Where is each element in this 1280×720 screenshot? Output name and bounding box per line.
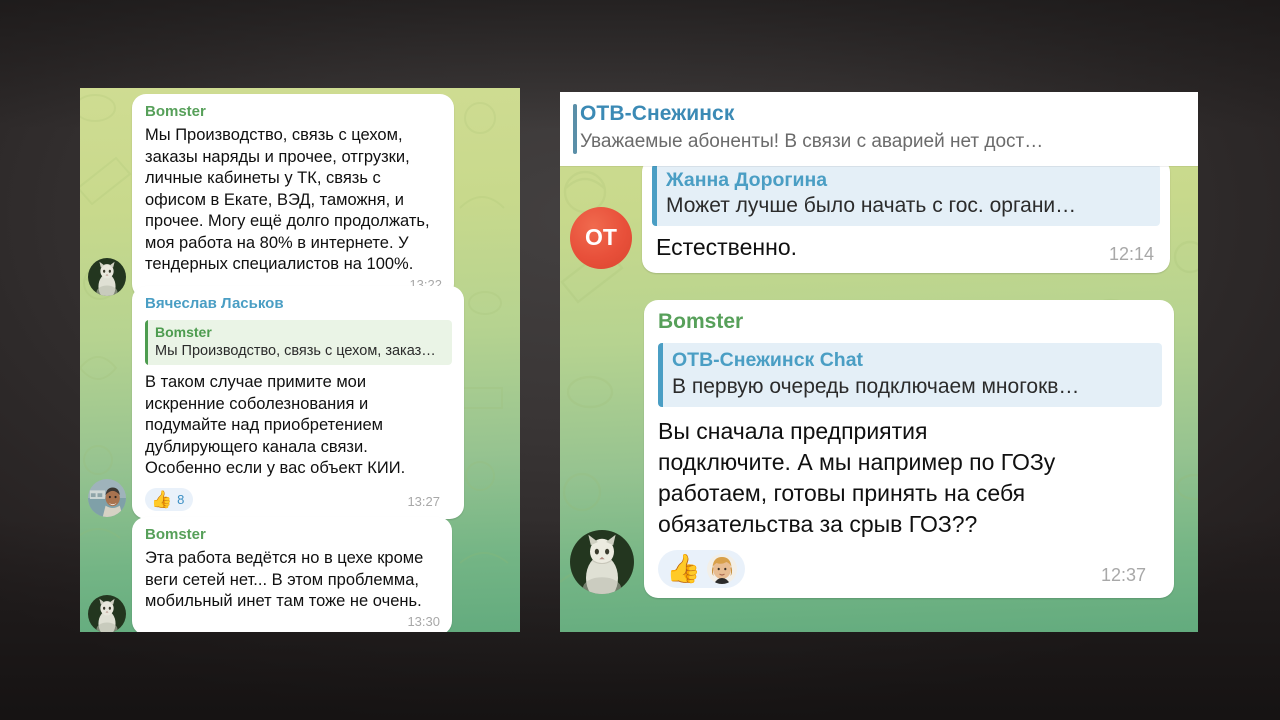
- pinned-message-bar[interactable]: ОТВ-Снежинск Уважаемые абоненты! В связи…: [560, 92, 1198, 166]
- message-row[interactable]: Bomster ОТВ-Снежинск Chat В первую очере…: [570, 300, 1192, 598]
- message-text: В таком случае примите мои искренние соб…: [145, 372, 452, 480]
- message-sender: Bomster: [145, 526, 440, 544]
- reaction-user-avatar[interactable]: [707, 554, 737, 584]
- chat-screenshot-left: Bomster Мы Производство, связь с цехом, …: [80, 88, 520, 632]
- message-text: Эта работа ведётся но в цехе кроме веги …: [145, 548, 440, 613]
- reply-quote-text: Может лучше было начать с гос. органи…: [666, 192, 1150, 219]
- avatar-initials-text: ОТ: [585, 224, 617, 251]
- reply-quote-author: Жанна Дорогина: [666, 168, 1150, 192]
- woman-photo-avatar-icon: [707, 554, 737, 584]
- avatar[interactable]: [570, 530, 634, 594]
- message-row[interactable]: ОТ Жанна Дорогина Может лучше было начат…: [570, 158, 1190, 273]
- cat-avatar-icon: [88, 595, 126, 633]
- reaction-count: 8: [177, 492, 184, 507]
- thumbs-up-icon: 👍: [666, 554, 701, 584]
- chat-screenshot-right: ОТВ-Снежинск Уважаемые абоненты! В связи…: [560, 92, 1198, 632]
- message-text: Мы Производство, связь с цехом, заказы н…: [145, 125, 442, 276]
- message-sender: Bomster: [658, 309, 1162, 334]
- message-row[interactable]: Bomster Эта работа ведётся но в цехе кро…: [88, 517, 512, 632]
- reaction-pill[interactable]: 👍: [658, 550, 745, 588]
- message-row[interactable]: Bomster Мы Производство, связь с цехом, …: [88, 94, 512, 298]
- reply-quote[interactable]: ОТВ-Снежинск Chat В первую очередь подкл…: [658, 343, 1162, 407]
- reply-quote-text: Мы Производство, связь с цехом, заказ…: [155, 342, 444, 361]
- avatar[interactable]: ОТ: [570, 207, 632, 269]
- message-row[interactable]: Вячеслав Ласьков Bomster Мы Производство…: [88, 286, 512, 519]
- reply-quote-author: Bomster: [155, 324, 444, 342]
- reply-quote-bar: [652, 164, 657, 226]
- reply-quote-bar: [658, 343, 663, 407]
- pinned-accent-bar: [573, 104, 577, 154]
- thumbs-up-icon: 👍: [151, 491, 172, 508]
- message-bubble[interactable]: Жанна Дорогина Может лучше было начать с…: [642, 158, 1170, 273]
- message-timestamp: 13:30: [407, 614, 440, 629]
- message-bubble[interactable]: Bomster Эта работа ведётся но в цехе кро…: [132, 517, 452, 632]
- message-bubble[interactable]: Bomster Мы Производство, связь с цехом, …: [132, 94, 454, 298]
- message-sender: Bomster: [145, 103, 442, 121]
- message-timestamp: 13:27: [407, 494, 440, 509]
- person-photo-avatar-icon: [88, 479, 126, 517]
- avatar[interactable]: [88, 479, 126, 517]
- message-text: Вы сначала предприятия подключите. А мы …: [658, 416, 1162, 540]
- reaction-pill[interactable]: 👍 8: [145, 488, 193, 511]
- pinned-text: Уважаемые абоненты! В связи с аварией не…: [580, 129, 1184, 155]
- reply-quote[interactable]: Bomster Мы Производство, связь с цехом, …: [145, 320, 452, 365]
- message-bubble[interactable]: Вячеслав Ласьков Bomster Мы Производство…: [132, 286, 464, 519]
- message-bubble[interactable]: Bomster ОТВ-Снежинск Chat В первую очере…: [644, 300, 1174, 598]
- reply-quote-text: В первую очередь подключаем многокв…: [672, 373, 1152, 400]
- avatar[interactable]: [88, 595, 126, 633]
- cat-avatar-icon: [570, 530, 634, 594]
- reply-quote-bar: [145, 320, 148, 365]
- reply-quote-author: ОТВ-Снежинск Chat: [672, 348, 1152, 372]
- message-timestamp: 12:37: [1101, 565, 1146, 586]
- message-text: Естественно.: [652, 232, 1160, 263]
- message-sender: Вячеслав Ласьков: [145, 295, 452, 313]
- reply-quote[interactable]: Жанна Дорогина Может лучше было начать с…: [652, 164, 1160, 226]
- pinned-title: ОТВ-Снежинск: [580, 100, 1184, 127]
- message-timestamp: 12:14: [1109, 244, 1154, 265]
